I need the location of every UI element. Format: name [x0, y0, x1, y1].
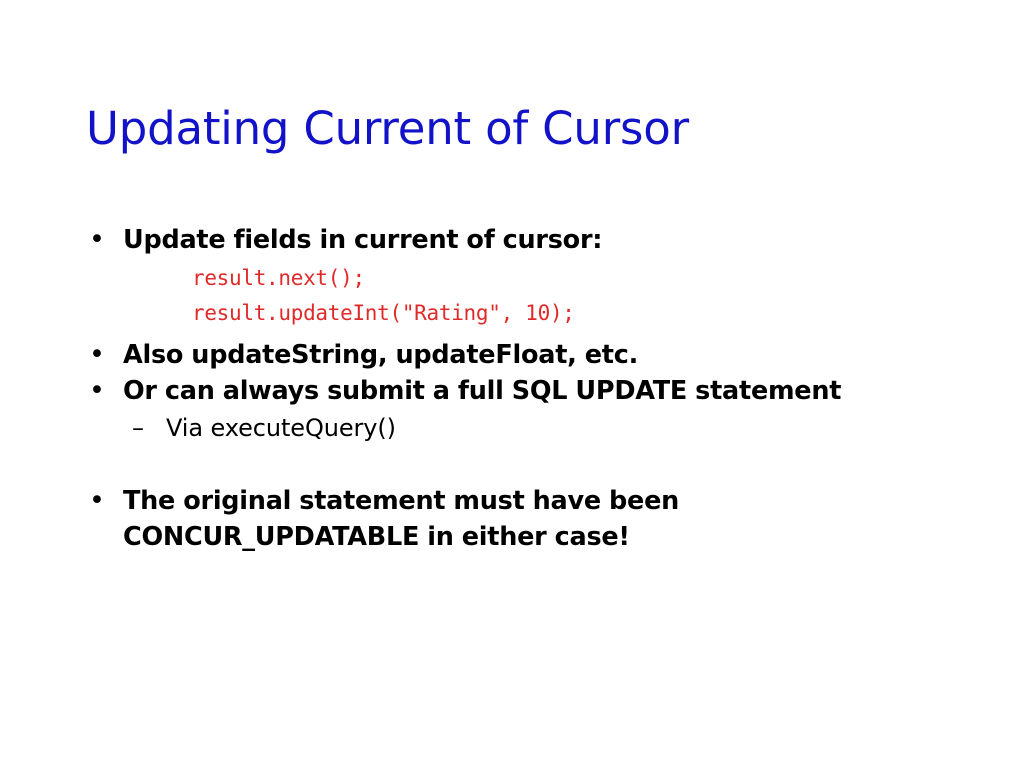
bullet-dot-icon: •: [86, 337, 123, 373]
blank-line-spacer: [86, 447, 936, 483]
bullet-text: Or can always submit a full SQL UPDATE s…: [123, 373, 936, 409]
bullet-item-also-update-string: • Also updateString, updateFloat, etc.: [86, 337, 936, 373]
bullet-item-concur-updatable: • The original statement must have been …: [86, 483, 936, 555]
bullet-text: The original statement must have been CO…: [123, 483, 936, 555]
page-title: Updating Current of Cursor: [86, 103, 946, 155]
sub-bullet-text: Via executeQuery(): [166, 409, 936, 447]
bullet-text: Also updateString, updateFloat, etc.: [123, 337, 936, 373]
code-line-result-update-int: result.updateInt("Rating", 10);: [86, 296, 936, 331]
bullet-dot-icon: •: [86, 373, 123, 409]
bullet-text: Update fields in current of cursor:: [123, 222, 936, 258]
slide-canvas: Updating Current of Cursor • Update fiel…: [0, 0, 1024, 768]
slide-body: • Update fields in current of cursor: re…: [86, 222, 936, 555]
sub-bullet-item-via-execute-query: – Via executeQuery(): [86, 409, 936, 447]
dash-icon: –: [132, 409, 166, 447]
bullet-dot-icon: •: [86, 222, 123, 258]
bullet-dot-icon: •: [86, 483, 123, 519]
bullet-item-full-sql-update: • Or can always submit a full SQL UPDATE…: [86, 373, 936, 409]
bullet-item-update-fields: • Update fields in current of cursor:: [86, 222, 936, 258]
code-line-result-next: result.next();: [86, 261, 936, 296]
